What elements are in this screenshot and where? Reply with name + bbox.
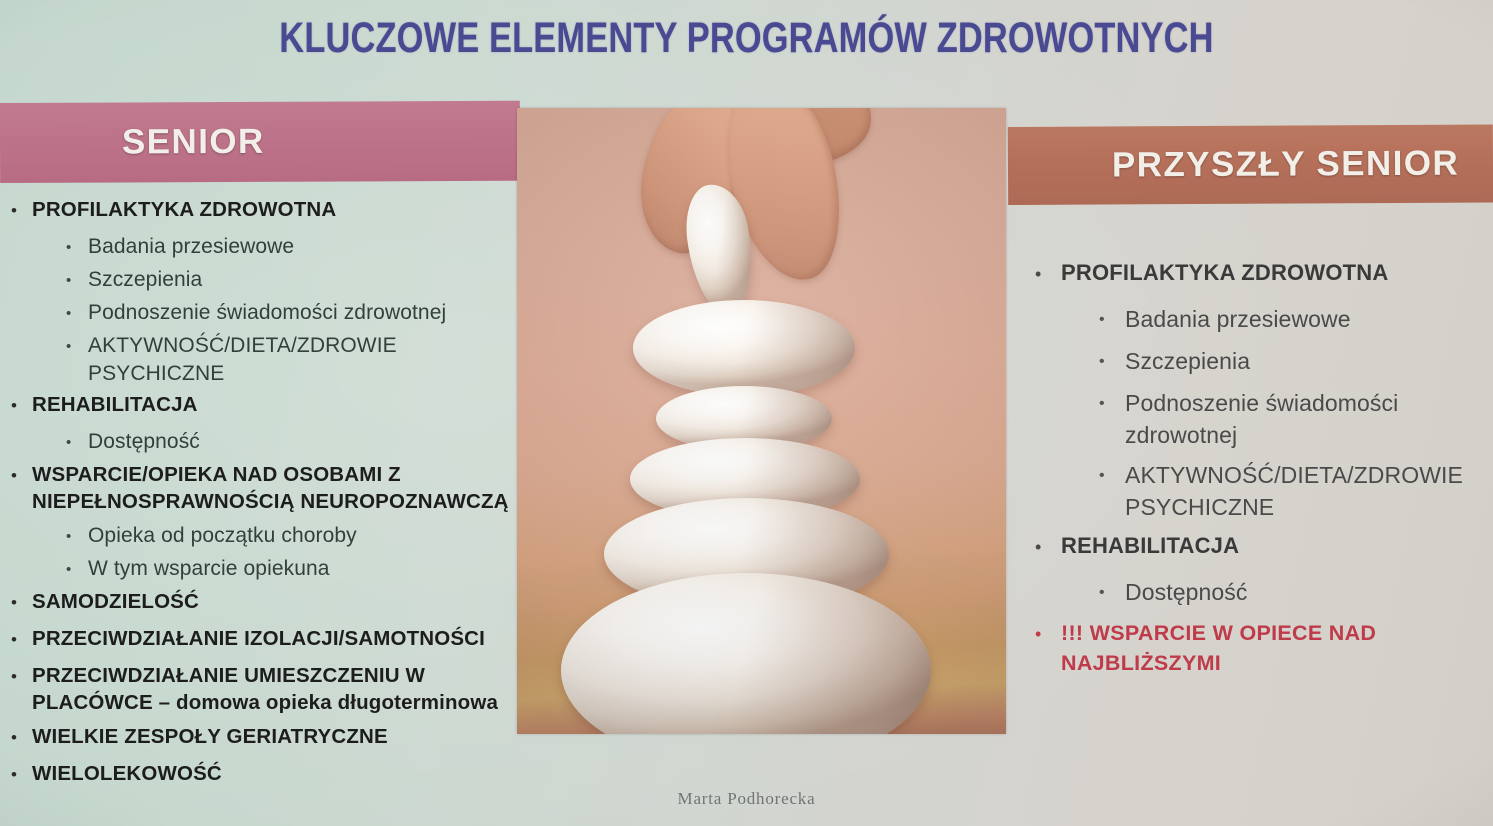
list-item: •WIELOLEKOWOŚĆ xyxy=(0,760,512,790)
stone-held-in-hand xyxy=(680,180,760,319)
presentation-slide: KLUCZOWE ELEMENTY PROGRAMÓW ZDROWOTNYCH … xyxy=(0,0,1493,826)
right-column-header-label: PRZYSZŁY SENIOR xyxy=(1112,144,1459,186)
list-item: •W tym wsparcie opiekuna xyxy=(0,555,512,585)
bullet-icon: • xyxy=(0,391,32,421)
bullet-icon: • xyxy=(1015,258,1061,290)
list-item: •REHABILITACJA xyxy=(1015,531,1493,563)
right-column-header-band: PRZYSZŁY SENIOR xyxy=(1008,124,1493,205)
bullet-icon: • xyxy=(1015,345,1125,379)
page-title: KLUCZOWE ELEMENTY PROGRAMÓW ZDROWOTNYCH xyxy=(149,14,1343,63)
bullet-icon: • xyxy=(0,332,88,388)
list-item: •PRZECIWDZIAŁANIE UMIESZCZENIU W PLACÓWC… xyxy=(0,662,512,716)
bullet-icon: • xyxy=(0,299,88,329)
index-finger xyxy=(712,108,856,291)
list-item: •PRZECIWDZIAŁANIE IZOLACJI/SAMOTNOŚCI xyxy=(0,625,512,655)
left-column-list: •PROFILAKTYKA ZDROWOTNA•Badania przesiew… xyxy=(0,196,512,797)
list-item: •Podnoszenie świadomości zdrowotnej xyxy=(0,299,512,329)
list-item-label: PRZECIWDZIAŁANIE IZOLACJI/SAMOTNOŚCI xyxy=(32,625,512,655)
list-item: •Badania przesiewowe xyxy=(1015,303,1493,337)
bullet-icon: • xyxy=(1015,576,1125,610)
bullet-icon: • xyxy=(0,196,32,226)
stone-4 xyxy=(656,386,832,451)
left-column-header-label: SENIOR xyxy=(122,122,265,163)
list-item: •AKTYWNOŚĆ/DIETA/ZDROWIE PSYCHICZNE xyxy=(1015,459,1493,523)
list-item: •PROFILAKTYKA ZDROWOTNA xyxy=(0,196,512,226)
list-item-label: PROFILAKTYKA ZDROWOTNA xyxy=(32,196,512,226)
list-item: •WSPARCIE/OPIEKA NAD OSOBAMI Z NIEPEŁNOS… xyxy=(0,461,512,515)
bullet-icon: • xyxy=(1015,459,1125,523)
list-item-label: PROFILAKTYKA ZDROWOTNA xyxy=(1061,258,1493,290)
list-item-label: Podnoszenie świadomości zdrowotnej xyxy=(1125,387,1493,451)
bullet-icon: • xyxy=(0,428,88,458)
list-item-label: WIELKIE ZESPOŁY GERIATRYCZNE xyxy=(32,723,512,753)
stone-5 xyxy=(633,300,855,396)
list-item: •Opieka od początku choroby xyxy=(0,522,512,552)
bullet-icon: • xyxy=(0,555,88,585)
bullet-icon: • xyxy=(0,662,32,716)
list-item-label: SAMODZIELOŚĆ xyxy=(32,588,512,618)
list-item-label: REHABILITACJA xyxy=(32,391,512,421)
list-item-label: Dostępność xyxy=(1125,576,1493,610)
left-column-header-band: SENIOR xyxy=(0,101,520,183)
list-item: •REHABILITACJA xyxy=(0,391,512,421)
list-item-label: Opieka od początku choroby xyxy=(88,522,512,552)
list-item: •SAMODZIELOŚĆ xyxy=(0,588,512,618)
bullet-icon: • xyxy=(1015,618,1061,678)
bullet-icon: • xyxy=(0,233,88,263)
list-item: •WIELKIE ZESPOŁY GERIATRYCZNE xyxy=(0,723,512,753)
list-item: •Podnoszenie świadomości zdrowotnej xyxy=(1015,387,1493,451)
list-item-label: W tym wsparcie opiekuna xyxy=(88,555,512,585)
list-item-label: PRZECIWDZIAŁANIE UMIESZCZENIU W PLACÓWCE… xyxy=(32,662,512,716)
bullet-icon: • xyxy=(0,723,32,753)
list-item-label: WSPARCIE/OPIEKA NAD OSOBAMI Z NIEPEŁNOSP… xyxy=(32,461,512,515)
list-item-label: Dostępność xyxy=(88,428,512,458)
list-item-label: Szczepienia xyxy=(88,266,512,296)
list-item: •Szczepienia xyxy=(1015,345,1493,379)
cairn-stones-photo xyxy=(517,108,1006,734)
list-item-label: AKTYWNOŚĆ/DIETA/ZDROWIE PSYCHICZNE xyxy=(1125,459,1493,523)
bullet-icon: • xyxy=(0,760,32,790)
bullet-icon: • xyxy=(0,588,32,618)
stone-3 xyxy=(630,438,860,520)
list-item-label: Badania przesiewowe xyxy=(1125,303,1493,337)
footer-credit: Marta Podhorecka xyxy=(0,789,1493,809)
list-item: •Badania przesiewowe xyxy=(0,233,512,263)
list-item-label: REHABILITACJA xyxy=(1061,531,1493,563)
list-item-label: Szczepienia xyxy=(1125,345,1493,379)
list-item: •Szczepienia xyxy=(0,266,512,296)
list-item: •Dostępność xyxy=(1015,576,1493,610)
list-item-label: !!! WSPARCIE W OPIECE NAD NAJBLIŻSZYMI xyxy=(1061,618,1493,678)
bullet-icon: • xyxy=(1015,531,1061,563)
bullet-icon: • xyxy=(0,522,88,552)
bullet-icon: • xyxy=(0,266,88,296)
bullet-icon: • xyxy=(0,461,32,515)
list-item-label: Podnoszenie świadomości zdrowotnej xyxy=(88,299,512,329)
list-item: •!!! WSPARCIE W OPIECE NAD NAJBLIŻSZYMI xyxy=(1015,618,1493,678)
hand-knuckles xyxy=(685,108,871,166)
stone-2 xyxy=(604,498,889,610)
list-item-label: AKTYWNOŚĆ/DIETA/ZDROWIE PSYCHICZNE xyxy=(88,332,512,388)
list-item: •AKTYWNOŚĆ/DIETA/ZDROWIE PSYCHICZNE xyxy=(0,332,512,388)
bullet-icon: • xyxy=(0,625,32,655)
list-item: •PROFILAKTYKA ZDROWOTNA xyxy=(1015,258,1493,290)
list-item: •Dostępność xyxy=(0,428,512,458)
right-column-list: •PROFILAKTYKA ZDROWOTNA•Badania przesiew… xyxy=(1015,258,1493,691)
bullet-icon: • xyxy=(1015,303,1125,337)
thumb xyxy=(626,108,760,263)
stone-1 xyxy=(561,573,931,734)
bullet-icon: • xyxy=(1015,387,1125,451)
hand-gap-shadow xyxy=(713,108,767,172)
list-item-label: WIELOLEKOWOŚĆ xyxy=(32,760,512,790)
list-item-label: Badania przesiewowe xyxy=(88,233,512,263)
